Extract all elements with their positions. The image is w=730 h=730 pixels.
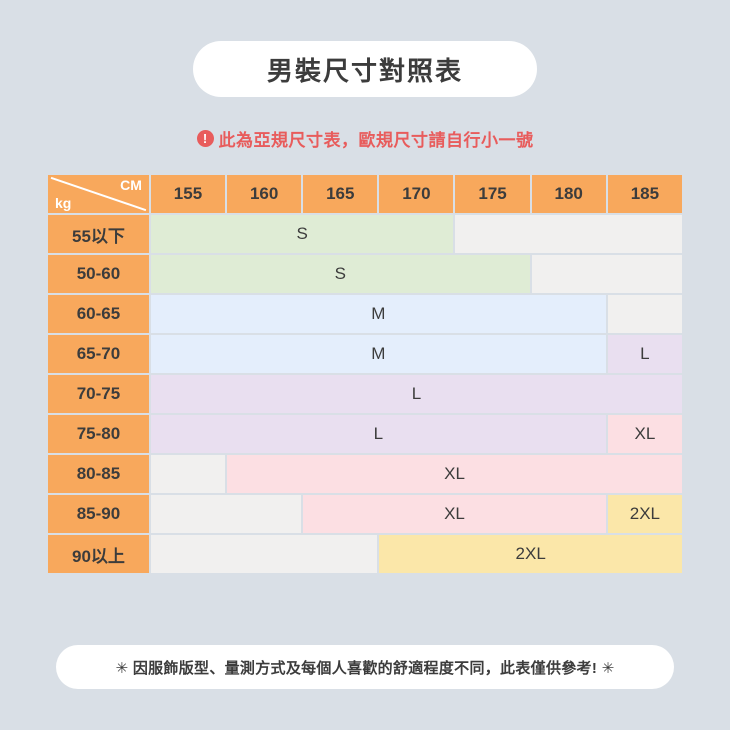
footer-note-pill: ✳ 因服飾版型、量測方式及每個人喜歡的舒適程度不同，此表僅供參考! ✳ — [56, 645, 674, 689]
column-header-160: 160 — [227, 175, 301, 213]
size-cell-empty — [608, 295, 682, 333]
size-cell-S: S — [151, 255, 530, 293]
warning-banner: ! 此為亞規尺寸表，歐規尺寸請自行小一號 — [0, 126, 730, 151]
size-cell-L: L — [151, 375, 682, 413]
size-cell-M: M — [151, 295, 606, 333]
size-cell-XL: XL — [227, 455, 682, 493]
table-row: 90以上2XL — [48, 535, 682, 573]
row-label-85-90: 85-90 — [48, 495, 149, 533]
column-header-175: 175 — [455, 175, 529, 213]
size-cell-L: L — [608, 335, 682, 373]
table-corner-cell: CMkg — [48, 175, 149, 213]
row-label-90以上: 90以上 — [48, 535, 149, 573]
table-row: 60-65M — [48, 295, 682, 333]
size-cell-empty — [455, 215, 682, 253]
size-cell-empty — [151, 455, 225, 493]
row-label-75-80: 75-80 — [48, 415, 149, 453]
size-cell-2XL: 2XL — [379, 535, 682, 573]
size-cell-XL: XL — [608, 415, 682, 453]
column-header-170: 170 — [379, 175, 453, 213]
warning-text: 此為亞規尺寸表，歐規尺寸請自行小一號 — [219, 126, 534, 151]
column-header-185: 185 — [608, 175, 682, 213]
size-cell-empty — [151, 535, 377, 573]
chart-title-pill: 男裝尺寸對照表 — [193, 41, 537, 97]
size-cell-S: S — [151, 215, 454, 253]
size-cell-2XL: 2XL — [608, 495, 682, 533]
size-cell-empty — [151, 495, 301, 533]
column-header-155: 155 — [151, 175, 225, 213]
size-cell-L: L — [151, 415, 606, 453]
corner-cm-label: CM — [120, 177, 142, 193]
row-label-70-75: 70-75 — [48, 375, 149, 413]
row-label-50-60: 50-60 — [48, 255, 149, 293]
corner-kg-label: kg — [55, 195, 71, 211]
row-label-60-65: 60-65 — [48, 295, 149, 333]
column-header-180: 180 — [532, 175, 606, 213]
table-row: 80-85XL — [48, 455, 682, 493]
table-row: 55以下S — [48, 215, 682, 253]
column-header-165: 165 — [303, 175, 377, 213]
size-cell-empty — [532, 255, 682, 293]
row-label-65-70: 65-70 — [48, 335, 149, 373]
table-row: 50-60S — [48, 255, 682, 293]
row-label-80-85: 80-85 — [48, 455, 149, 493]
size-chart-table: CMkg15516016517017518018555以下S50-60S60-6… — [46, 173, 684, 575]
table-row: 70-75L — [48, 375, 682, 413]
size-chart-page: 男裝尺寸對照表 ! 此為亞規尺寸表，歐規尺寸請自行小一號 CMkg1551601… — [0, 0, 730, 730]
table-row: 75-80LXL — [48, 415, 682, 453]
exclamation-circle-icon: ! — [197, 130, 214, 147]
table-row: 85-90XL2XL — [48, 495, 682, 533]
size-cell-M: M — [151, 335, 606, 373]
size-cell-XL: XL — [303, 495, 606, 533]
table-row: 65-70ML — [48, 335, 682, 373]
row-label-55以下: 55以下 — [48, 215, 149, 253]
footer-note: ✳ 因服飾版型、量測方式及每個人喜歡的舒適程度不同，此表僅供參考! ✳ — [116, 657, 615, 678]
table-header-row: CMkg155160165170175180185 — [48, 175, 682, 213]
page-title: 男裝尺寸對照表 — [267, 51, 463, 88]
